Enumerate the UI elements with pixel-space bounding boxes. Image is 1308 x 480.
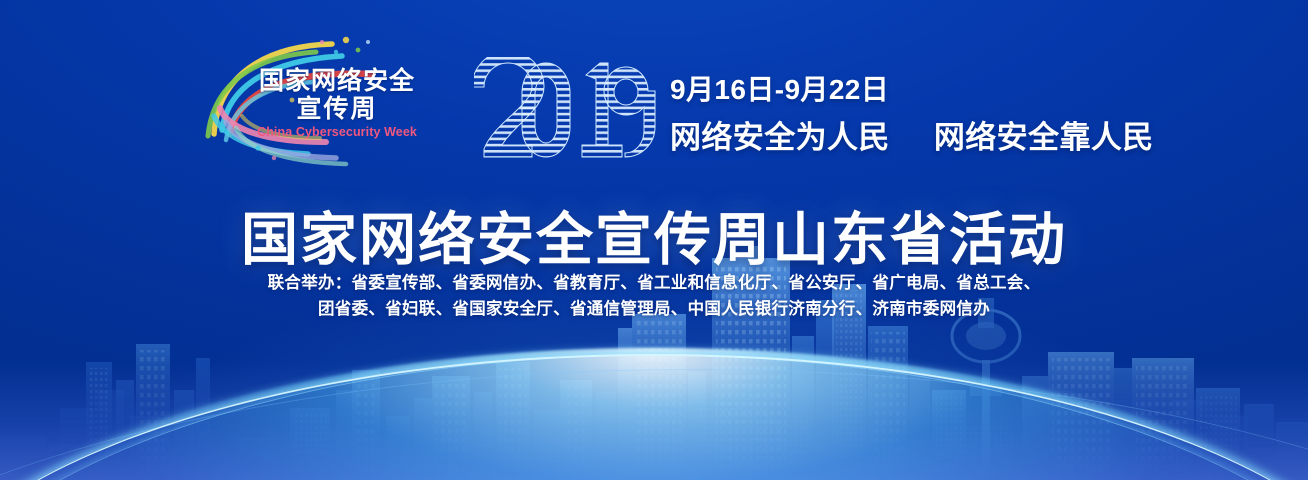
slogan-part-1: 网络安全为人民: [670, 120, 890, 155]
ground-glow: [0, 360, 1308, 480]
logo-english-title: China Cybersecurity Week: [248, 125, 426, 139]
logo-title-line1: 国家网络安全: [248, 68, 426, 95]
slogan-part-2: 网络安全靠人民: [934, 120, 1154, 155]
digit-0: [522, 63, 570, 157]
organizers-line-2: 团省委、省妇联、省国家安全厅、省通信管理局、中国人民银行济南分行、济南市委网信办: [0, 296, 1308, 322]
cybersecurity-week-banner: 国家网络安全 宣传周 China Cybersecurity Week: [0, 0, 1308, 480]
event-slogan: 网络安全为人民 网络安全靠人民: [670, 112, 1154, 157]
organizers-line-1: 联合举办：省委宣传部、省委网信办、省教育厅、省工业和信息化厅、省公安厅、省广电局…: [0, 270, 1308, 296]
page-title: 国家网络安全宣传周山东省活动: [0, 194, 1308, 276]
china-cybersecurity-week-logo: 国家网络安全 宣传周 China Cybersecurity Week: [196, 30, 428, 170]
digit-9: [604, 67, 655, 157]
year-2019-graphic: [474, 57, 658, 163]
organizers-block: 联合举办：省委宣传部、省委网信办、省教育厅、省工业和信息化厅、省公安厅、省广电局…: [0, 270, 1308, 322]
logo-title-line2: 宣传周: [248, 95, 426, 123]
event-date-range: 9月16日-9月22日: [670, 68, 889, 108]
